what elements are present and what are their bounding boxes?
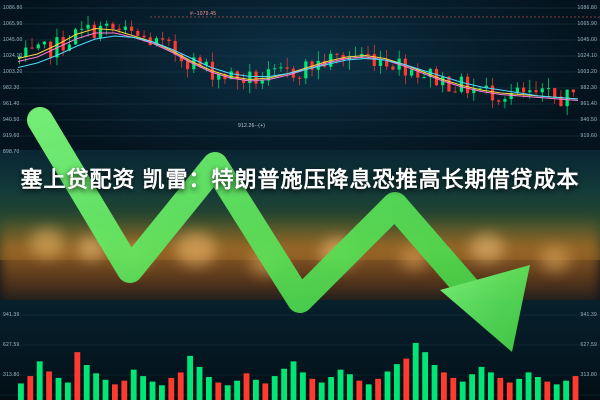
arrow-shaft: [40, 120, 495, 320]
article-cover-image: 1086.80 1086.80 1065.90 1065.90 1045.00 …: [0, 0, 600, 400]
page-title: 塞上贷配资 凯雷：特朗普施压降息恐推高长期借贷成本: [0, 160, 600, 200]
downward-trend-arrow: [0, 0, 600, 400]
